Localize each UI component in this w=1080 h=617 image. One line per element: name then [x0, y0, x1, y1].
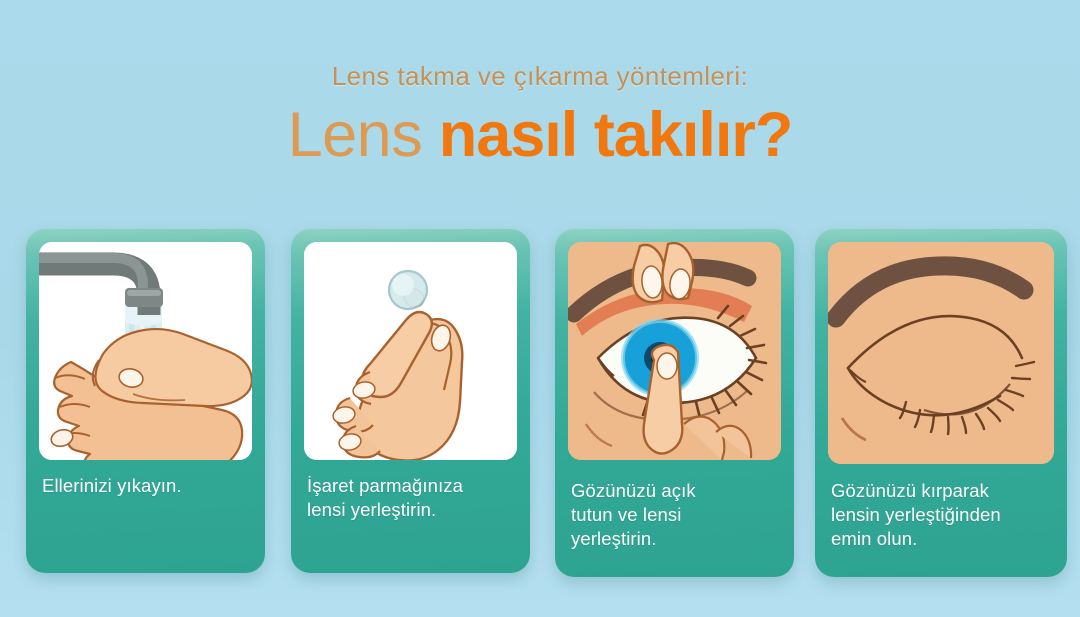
step-cards-row: Ellerinizi yıkayın. [26, 229, 1054, 579]
page-title: Lens nasıl takılır? [0, 91, 1080, 167]
step-card-blink[interactable]: Gözünüzü kırparak lensin yerleştiğinden … [815, 229, 1067, 577]
hands-washing-under-faucet-icon [39, 242, 252, 460]
step-card-lens-on-finger[interactable]: İşaret parmağınıza lensi yerleştirin. [291, 229, 530, 573]
subtitle: Lens takma ve çıkarma yöntemleri: [0, 0, 1080, 91]
header: Lens takma ve çıkarma yöntemleri: Lens n… [0, 0, 1080, 167]
infographic-poster: Lens takma ve çıkarma yöntemleri: Lens n… [0, 0, 1080, 617]
step-caption: İşaret parmağınıza lensi yerleştirin. [307, 474, 518, 522]
title-bold-part [422, 100, 439, 170]
title-light-part: Lens [288, 100, 423, 170]
step-caption: Ellerinizi yıkayın. [42, 474, 253, 498]
closed-eye-blinking-icon [828, 242, 1054, 464]
index-finger-with-contact-lens-icon [304, 242, 517, 460]
step-card-hold-eye-open[interactable]: Gözünüzü açık tutun ve lensi yerleştirin… [555, 229, 794, 577]
open-eye-with-finger-inserting-lens-icon [568, 242, 781, 460]
step-caption: Gözünüzü açık tutun ve lensi yerleştirin… [571, 479, 782, 551]
step-card-wash-hands[interactable]: Ellerinizi yıkayın. [26, 229, 265, 573]
step-caption: Gözünüzü kırparak lensin yerleştiğinden … [831, 479, 1055, 551]
title-bold-text: nasıl takılır? [439, 100, 793, 170]
